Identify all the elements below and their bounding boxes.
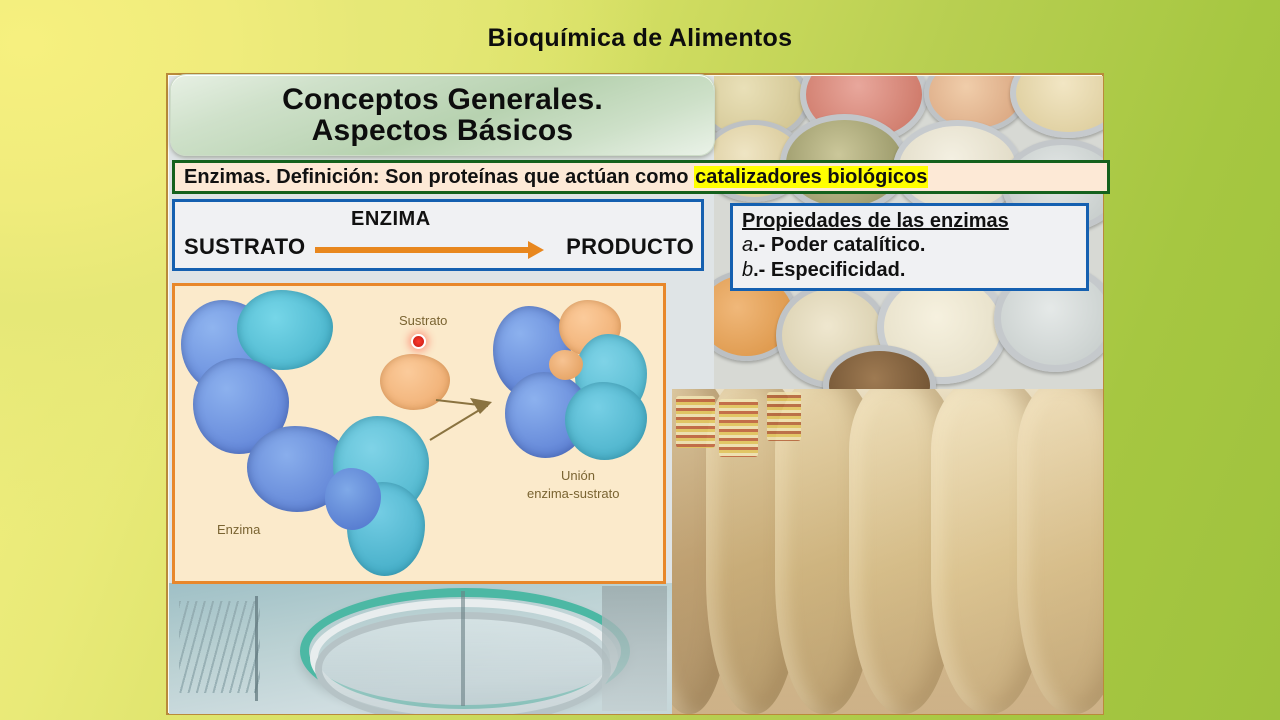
properties-heading: Propiedades de las enzimas bbox=[742, 209, 1086, 233]
slide-title-line2: Aspectos Básicos bbox=[282, 115, 603, 146]
reaction-substrate-label: SUSTRATO bbox=[184, 234, 305, 260]
diagram-label-substrate: Sustrato bbox=[399, 313, 447, 328]
definition-text: Enzimas. Definición: Son proteínas que a… bbox=[184, 166, 694, 188]
diagram-label-enzyme: Enzima bbox=[217, 522, 260, 537]
diagram-label-complex-line1: Unión bbox=[561, 468, 595, 483]
properties-item-b-text: .- Especificidad. bbox=[753, 259, 905, 281]
properties-marker-a: a bbox=[742, 234, 753, 256]
slide-title-line1: Conceptos Generales. bbox=[282, 84, 603, 115]
definition-bar: Enzimas. Definición: Son proteínas que a… bbox=[172, 160, 1110, 194]
reaction-arrow-icon bbox=[315, 247, 530, 253]
properties-item-a-text: .- Poder catalítico. bbox=[753, 234, 925, 256]
enzyme-substrate-diagram: Sustrato Enzima Unión enzima-sustrato bbox=[172, 283, 666, 584]
reaction-enzyme-label: ENZIMA bbox=[351, 208, 431, 231]
reaction-product-label: PRODUCTO bbox=[566, 234, 694, 260]
diagram-arrow-icon bbox=[428, 394, 496, 442]
slide-title-box: Conceptos Generales. Aspectos Básicos bbox=[170, 74, 715, 156]
properties-marker-b: b bbox=[742, 259, 753, 281]
page-title: Bioquímica de Alimentos bbox=[0, 24, 1280, 53]
diagram-label-complex-line2: enzima-sustrato bbox=[527, 486, 619, 501]
properties-item-a: a.- Poder catalítico. bbox=[742, 233, 1086, 257]
properties-box: Propiedades de las enzimas a.- Poder cat… bbox=[730, 203, 1089, 291]
reaction-box: ENZIMA SUSTRATO PRODUCTO bbox=[172, 199, 704, 271]
cured-hams-photo bbox=[672, 389, 1103, 714]
definition-highlight: catalizadores biológicos bbox=[694, 166, 928, 188]
properties-item-b: b.- Especificidad. bbox=[742, 258, 1086, 282]
food-processing-plant-photo bbox=[169, 583, 672, 714]
